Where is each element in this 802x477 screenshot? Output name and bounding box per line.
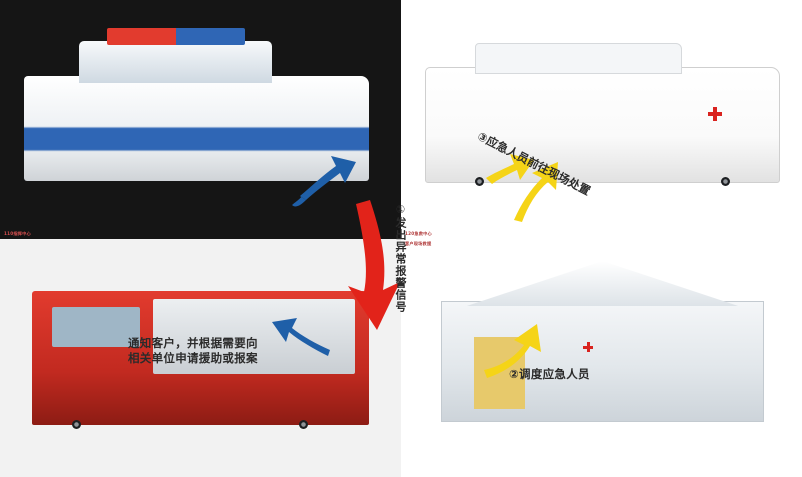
cab-window	[52, 307, 140, 347]
flow-label-step2: ②调度应急人员	[509, 367, 590, 382]
roof	[423, 261, 782, 306]
ambulance-roof	[475, 43, 682, 75]
wheel	[299, 420, 308, 429]
wheel	[721, 177, 730, 186]
caption-notify-client: 通知客户，并根据需要向 相关单位申请援助或报案	[128, 336, 258, 366]
wheel	[72, 420, 81, 429]
tile-label: 客户现场救援	[405, 241, 431, 247]
client-site-icon	[441, 301, 764, 422]
wheel	[475, 177, 484, 186]
tile-client-site: 客户现场救援	[401, 239, 802, 477]
red-cross-icon	[583, 342, 593, 352]
tile-label: 110指挥中心	[4, 231, 31, 237]
tile-police-car: 110指挥中心	[0, 0, 401, 239]
ambulance-icon	[425, 67, 780, 183]
tile-ambulance: 120急救中心	[401, 0, 802, 239]
diagram-canvas: 人技结合实现简图 The diagram of Man-Tech combine…	[0, 0, 802, 477]
emergency-vehicles-collage: 110指挥中心 120急救中心 客	[0, 0, 158, 118]
red-cross-icon	[708, 107, 722, 121]
police-car-icon	[24, 76, 369, 181]
flow-label-step1: ①发出异常报警信号	[392, 203, 406, 313]
tile-label: 120急救中心	[405, 231, 432, 237]
